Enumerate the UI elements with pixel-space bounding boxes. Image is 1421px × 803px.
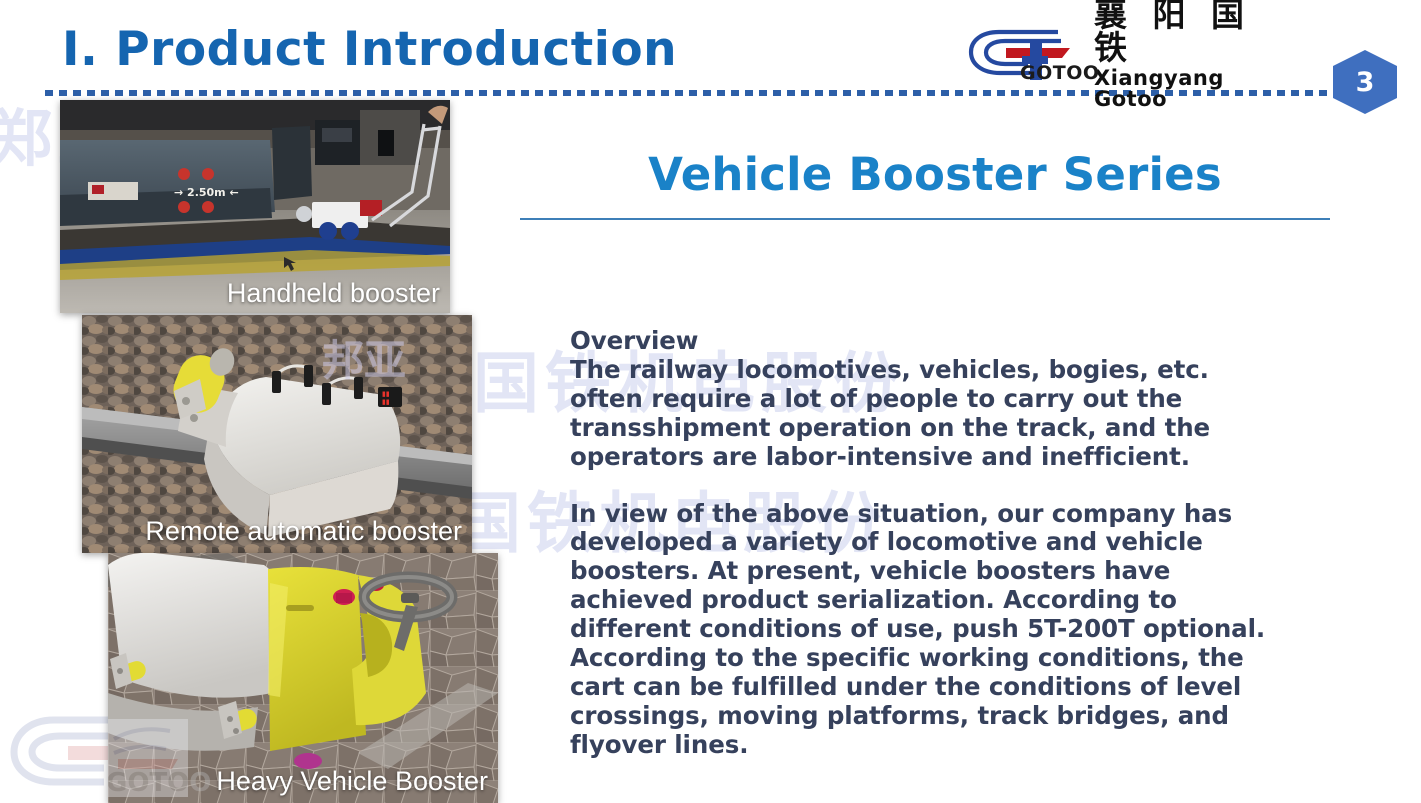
svg-text:→ 2.50m ←: → 2.50m ← xyxy=(174,186,239,199)
photo-caption-remote: Remote automatic booster xyxy=(145,516,462,547)
overview-label: Overview xyxy=(570,327,1270,356)
slide-canvas: 郑亚鹏 邦亚 国铁机电股份 郑亚鹏 国铁机电股份 GOTOO Ⅰ. Produc… xyxy=(0,0,1421,803)
paragraph-two: In view of the above situation, our comp… xyxy=(570,500,1270,760)
svg-text:▮▮: ▮▮ xyxy=(382,398,390,406)
photo-caption-handheld: Handheld booster xyxy=(227,278,440,309)
photo-heavy-vehicle-booster[interactable]: GOTOO Heavy Vehicle Booster xyxy=(108,553,498,803)
content-panel: Vehicle Booster Series xyxy=(520,150,1350,220)
brand-english-name: Xiangyang Gotoo xyxy=(1094,68,1276,110)
svg-text:GOTOO: GOTOO xyxy=(108,768,211,798)
svg-text:邦亚: 邦亚 xyxy=(322,336,406,385)
gotoo-wordmark: GOTOO xyxy=(1020,62,1100,84)
brand-chinese-name: 襄 阳 国 铁 xyxy=(1094,0,1276,64)
gotoo-mark-icon: GOTOO xyxy=(966,26,1084,82)
panel-body: Overview The railway locomotives, vehicl… xyxy=(570,327,1270,760)
brand-logo: GOTOO 襄 阳 国 铁 Xiangyang Gotoo xyxy=(966,24,1276,84)
photo-remote-automatic-booster[interactable]: ▮▮▮▮ 邦亚 Remote automatic booster xyxy=(82,315,472,553)
svg-text:▮▮: ▮▮ xyxy=(382,390,390,398)
photo-caption-heavy: Heavy Vehicle Booster xyxy=(216,766,488,797)
photo-handheld-booster[interactable]: → 2.50m ← Handheld booster xyxy=(60,100,450,313)
page-number-badge: 3 xyxy=(1333,50,1397,114)
page-number-value: 3 xyxy=(1356,67,1375,98)
panel-heading: Vehicle Booster Series xyxy=(520,150,1350,200)
paragraph-spacer xyxy=(570,472,1270,500)
page-title: Ⅰ. Product Introduction xyxy=(62,22,677,77)
panel-divider xyxy=(520,218,1330,220)
paragraph-one: The railway locomotives, vehicles, bogie… xyxy=(570,356,1270,472)
